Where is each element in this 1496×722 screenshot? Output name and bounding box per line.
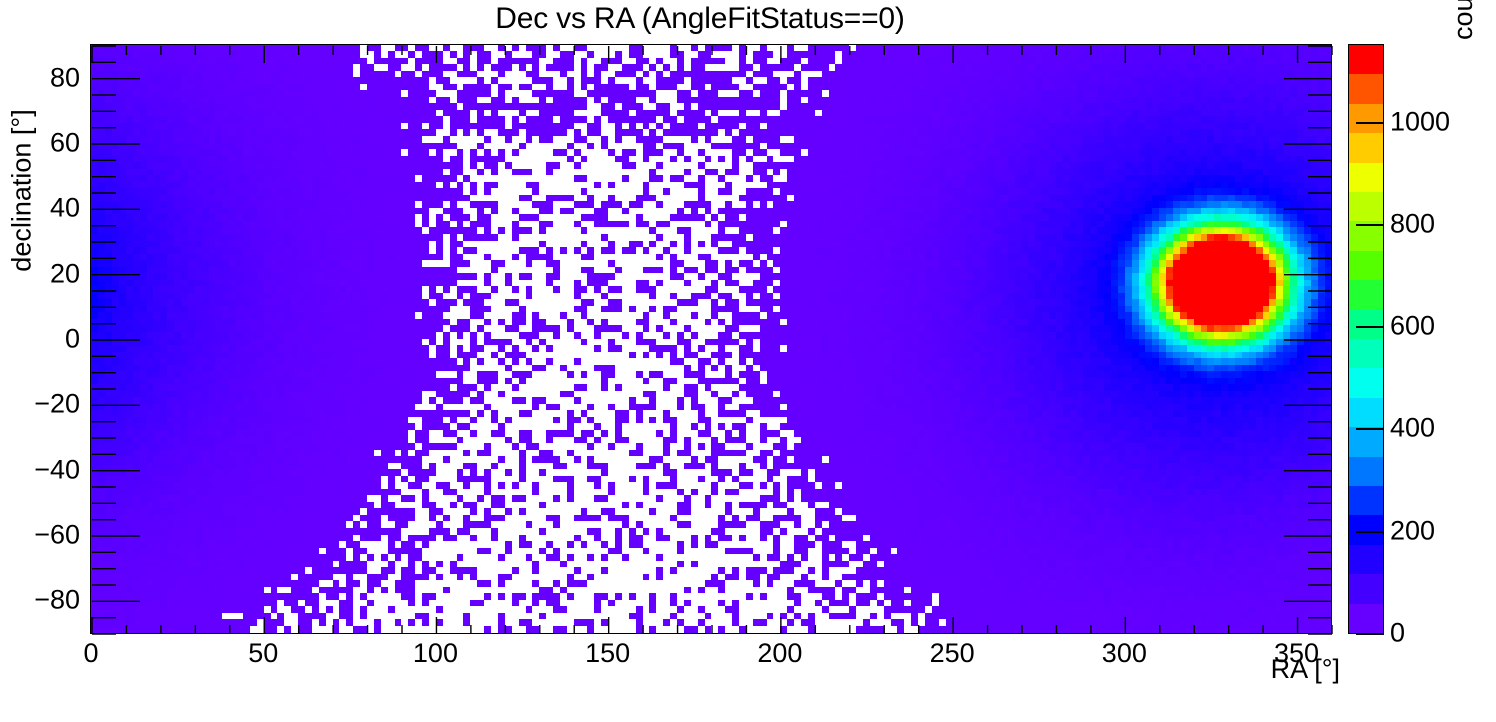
colorbar-tick-label: 1000 <box>1390 106 1450 137</box>
colorbar-tick <box>1356 531 1384 533</box>
colorbar-tick-label: 400 <box>1390 413 1435 444</box>
x-tick-label: 0 <box>83 638 98 669</box>
colorbar-tick-label: 800 <box>1390 208 1435 239</box>
colorbar-title: count <box>1448 0 1479 40</box>
histogram-canvas[interactable] <box>91 45 1331 633</box>
x-tick-label: 200 <box>757 638 802 669</box>
colorbar-tick-label: 200 <box>1390 515 1435 546</box>
colorbar-tick <box>1356 633 1384 635</box>
plot-frame <box>90 44 1332 634</box>
plot-page: Dec vs RA (AngleFitStatus==0) 0501001502… <box>0 0 1496 722</box>
y-tick-label: −40 <box>0 454 80 485</box>
colorbar-gradient <box>1348 44 1384 634</box>
x-tick-label: 50 <box>248 638 278 669</box>
page-title: Dec vs RA (AngleFitStatus==0) <box>0 2 1400 36</box>
colorbar-tick <box>1356 224 1384 226</box>
colorbar-tick <box>1356 122 1384 124</box>
x-tick-label: 150 <box>585 638 630 669</box>
colorbar-tick-label: 0 <box>1390 618 1405 649</box>
colorbar-tick <box>1356 326 1384 328</box>
y-tick-label: −60 <box>0 520 80 551</box>
colorbar[interactable]: 02004006008001000 <box>1348 44 1384 634</box>
x-axis-title: RA [°] <box>1271 654 1340 685</box>
y-tick-label: −20 <box>0 389 80 420</box>
colorbar-tick <box>1356 428 1384 430</box>
x-tick-label: 250 <box>930 638 975 669</box>
y-tick-label: 0 <box>0 324 80 355</box>
y-axis-title: declination [°] <box>7 81 38 301</box>
x-tick-label: 300 <box>1102 638 1147 669</box>
colorbar-tick-label: 600 <box>1390 311 1435 342</box>
x-tick-label: 100 <box>413 638 458 669</box>
y-tick-label: −80 <box>0 585 80 616</box>
